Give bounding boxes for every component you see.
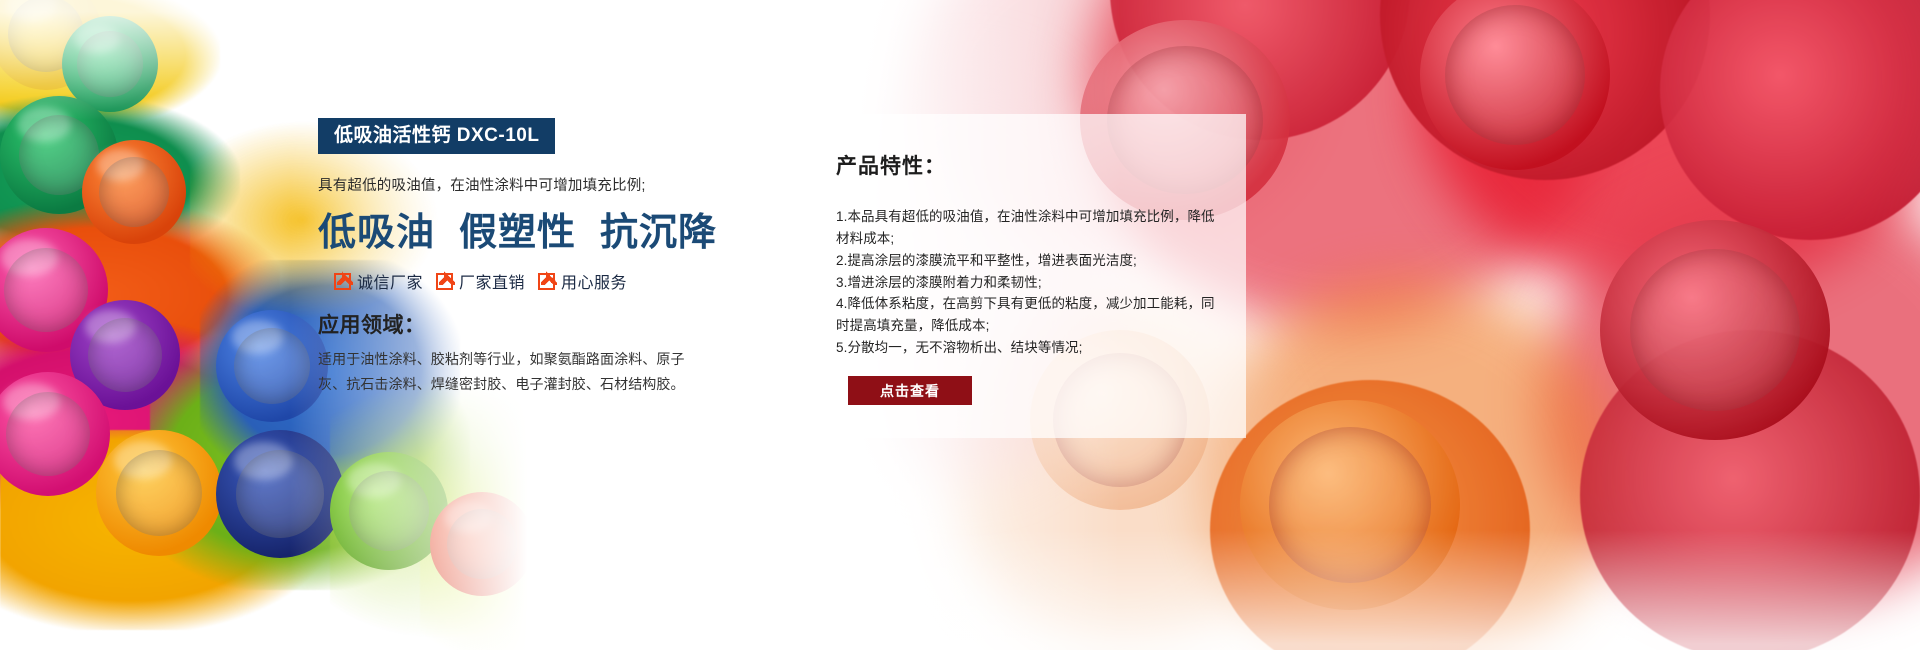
checkbox-checked-icon bbox=[334, 273, 351, 290]
features-title: 产品特性： bbox=[836, 150, 1216, 180]
feature-item: 1.本品具有超低的吸油值，在油性涂料中可增加填充比例，降低材料成本; bbox=[836, 206, 1216, 250]
trust-marks: 诚信厂家 厂家直销 用心服务 bbox=[318, 269, 718, 293]
paint-pot bbox=[82, 140, 186, 244]
product-copy-block: 低吸油活性钙 DXC-10L 具有超低的吸油值，在油性涂料中可增加填充比例; 低… bbox=[318, 118, 718, 396]
paint-cup bbox=[1600, 220, 1830, 440]
feature-item: 5.分散均一，无不溶物析出、结块等情况; bbox=[836, 337, 1216, 359]
banner-stage: 低吸油活性钙 DXC-10L 具有超低的吸油值，在油性涂料中可增加填充比例; 低… bbox=[0, 0, 1920, 650]
application-title: 应用领域： bbox=[318, 309, 718, 339]
left-art-top-fade bbox=[0, 0, 620, 120]
trust-mark-label: 用心服务 bbox=[561, 269, 627, 293]
trust-mark-label: 厂家直销 bbox=[459, 269, 525, 293]
product-headline: 低吸油假塑性抗沉降 bbox=[318, 211, 718, 254]
product-badge: 低吸油活性钙 DXC-10L bbox=[318, 118, 555, 154]
feature-item: 2.提高涂层的漆膜流平和平整性，增进表面光洁度; bbox=[836, 250, 1216, 272]
headline-word-1: 低吸油 bbox=[318, 210, 435, 254]
application-body: 适用于油性涂料、胶粘剂等行业，如聚氨酯路面涂料、原子灰、抗石击涂料、焊缝密封胶、… bbox=[318, 347, 712, 396]
trust-mark-label: 诚信厂家 bbox=[357, 269, 423, 293]
headline-word-3: 抗沉降 bbox=[600, 210, 717, 254]
trust-mark-1: 诚信厂家 bbox=[334, 269, 423, 293]
features-list: 1.本品具有超低的吸油值，在油性涂料中可增加填充比例，降低材料成本; 2.提高涂… bbox=[836, 206, 1216, 359]
trust-mark-3: 用心服务 bbox=[538, 269, 627, 293]
checkbox-checked-icon bbox=[436, 273, 453, 290]
view-details-button[interactable]: 点击查看 bbox=[848, 376, 972, 405]
headline-word-2: 假塑性 bbox=[459, 210, 576, 254]
checkbox-checked-icon bbox=[538, 273, 555, 290]
feature-item: 4.降低体系粘度，在高剪下具有更低的粘度，减少加工能耗，同时提高填充量，降低成本… bbox=[836, 293, 1216, 337]
feature-item: 3.增进涂层的漆膜附着力和柔韧性; bbox=[836, 272, 1216, 294]
product-subtitle: 具有超低的吸油值，在油性涂料中可增加填充比例; bbox=[318, 176, 718, 198]
right-art-bottom-fade bbox=[780, 530, 1920, 650]
paint-pot bbox=[96, 430, 222, 556]
trust-mark-2: 厂家直销 bbox=[436, 269, 525, 293]
